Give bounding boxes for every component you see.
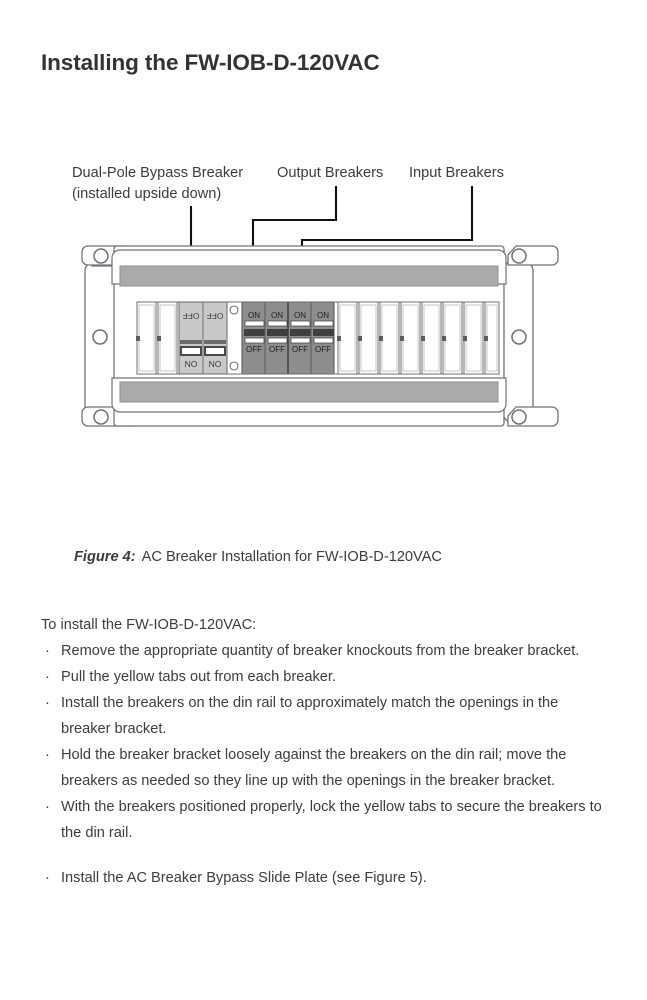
empty-slot [136, 302, 156, 374]
breaker-on-label: ON [248, 311, 260, 320]
bullet-marker: · [45, 794, 50, 820]
breaker-bracket: ON OFF ON OFF [136, 302, 499, 374]
breaker-on-label: ON [271, 311, 283, 320]
empty-slot [463, 302, 483, 374]
figure-caption-label: Figure 4: [74, 549, 136, 565]
instruction-step-text: Pull the yellow tabs out from each break… [61, 669, 336, 685]
empty-slot [421, 302, 441, 374]
bullet-marker: · [45, 742, 50, 768]
instruction-step: ·Remove the appropriate quantity of brea… [41, 638, 611, 664]
instruction-step-text: Install the breakers on the din rail to … [61, 695, 558, 737]
bracket-hole-bottom [230, 362, 238, 370]
empty-slot [442, 302, 462, 374]
breaker-off-label: OFF [292, 345, 308, 354]
empty-slot [358, 302, 378, 374]
page-title: Installing the FW-IOB-D-120VAC [41, 50, 380, 76]
instruction-step: ·Install the AC Breaker Bypass Slide Pla… [41, 865, 611, 891]
callout-label-input: Input Breakers [409, 165, 504, 181]
instruction-step-text: Install the AC Breaker Bypass Slide Plat… [61, 870, 427, 886]
bullet-marker: · [45, 664, 50, 690]
breaker-on-label: ON [294, 311, 306, 320]
bypass-off-label: OFF [207, 311, 224, 321]
breaker-panel-diagram: Dual-Pole Bypass Breaker (installed upsi… [0, 150, 647, 570]
figure-caption: Figure 4:AC Breaker Installation for FW-… [74, 549, 442, 565]
breaker-off-label: OFF [315, 345, 331, 354]
callout-label-bypass-line1: Dual-Pole Bypass Breaker [72, 165, 243, 181]
bypass-on-label: ON [209, 359, 222, 369]
instruction-step-text: Hold the breaker bracket loosely against… [61, 747, 566, 789]
bottom-gray-band [120, 382, 498, 402]
bracket-hole-top [230, 306, 238, 314]
screw-hole-center-right [512, 330, 526, 344]
instruction-step: ·Hold the breaker bracket loosely agains… [41, 742, 611, 794]
screw-hole-bottom-right [512, 410, 526, 424]
document-page: Installing the FW-IOB-D-120VAC Dual-Pole… [0, 0, 647, 1000]
screw-hole-top-left [94, 249, 108, 263]
empty-slot [400, 302, 420, 374]
top-gray-band [120, 266, 498, 286]
bullet-marker: · [45, 690, 50, 716]
screw-hole-center-left [93, 330, 107, 344]
breaker-on-label: ON [317, 311, 329, 320]
instruction-step: ·Install the breakers on the din rail to… [41, 690, 611, 742]
figure-caption-text: AC Breaker Installation for FW-IOB-D-120… [142, 549, 442, 565]
bypass-off-label: OFF [183, 311, 200, 321]
instruction-step-text: Remove the appropriate quantity of break… [61, 643, 579, 659]
callout-label-output: Output Breakers [277, 165, 383, 181]
screw-hole-top-right [512, 249, 526, 263]
empty-slot [379, 302, 399, 374]
breaker-off-label: OFF [246, 345, 262, 354]
bypass-breaker[interactable]: ON OFF ON OFF [179, 302, 227, 374]
instructions-list: ·Remove the appropriate quantity of brea… [41, 638, 611, 891]
empty-slot [157, 302, 177, 374]
instructions-lead: To install the FW-IOB-D-120VAC: [41, 612, 611, 638]
instructions-section: To install the FW-IOB-D-120VAC: ·Remove … [41, 612, 611, 891]
callout-label-bypass-line2: (installed upside down) [72, 186, 221, 202]
screw-hole-bottom-left [94, 410, 108, 424]
instruction-step: ·Pull the yellow tabs out from each brea… [41, 664, 611, 690]
empty-slot [484, 302, 499, 374]
mounting-flange-right [503, 246, 558, 426]
breaker-off-label: OFF [269, 345, 285, 354]
figure-illustration: Dual-Pole Bypass Breaker (installed upsi… [0, 150, 647, 570]
empty-slot [337, 302, 357, 374]
instruction-step-text: With the breakers positioned properly, l… [61, 799, 602, 841]
instruction-step: ·With the breakers positioned properly, … [41, 794, 611, 846]
bullet-marker: · [45, 865, 50, 891]
bullet-marker: · [45, 638, 50, 664]
bypass-on-label: ON [185, 359, 198, 369]
